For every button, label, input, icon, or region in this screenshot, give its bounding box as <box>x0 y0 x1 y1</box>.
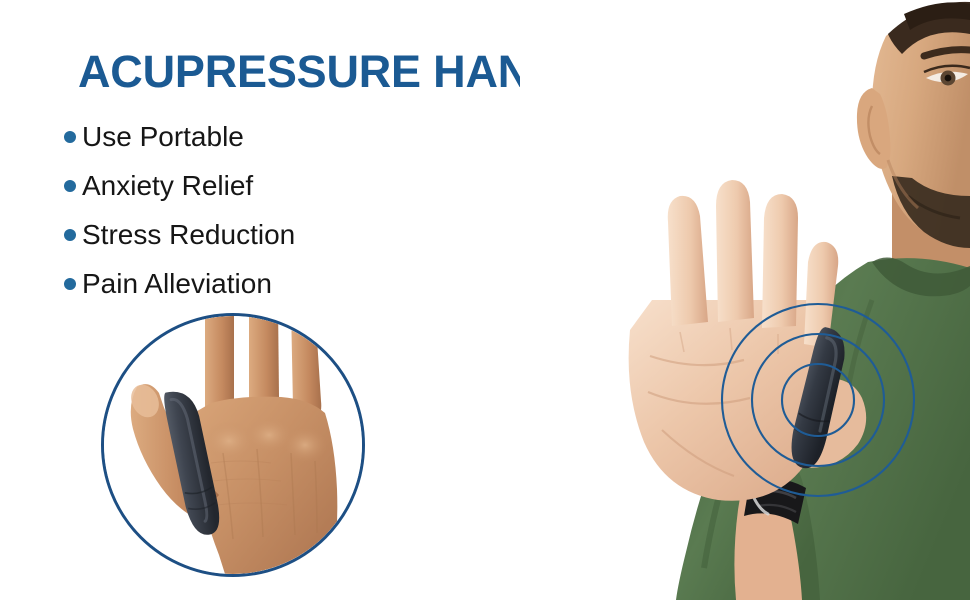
feature-label: Anxiety Relief <box>82 172 253 200</box>
bullet-dot-icon <box>64 131 76 143</box>
feature-list: Use Portable Anxiety Relief Stress Reduc… <box>64 112 295 308</box>
man-holding-device-photo <box>520 0 970 600</box>
feature-label: Pain Alleviation <box>82 270 272 298</box>
bullet-dot-icon <box>64 229 76 241</box>
list-item: Anxiety Relief <box>64 161 295 210</box>
hand-closeup-circle <box>101 313 365 577</box>
bullet-dot-icon <box>64 278 76 290</box>
list-item: Pain Alleviation <box>64 259 295 308</box>
list-item: Use Portable <box>64 112 295 161</box>
bullet-dot-icon <box>64 180 76 192</box>
man-photo-illustration <box>520 0 970 600</box>
list-item: Stress Reduction <box>64 210 295 259</box>
feature-label: Use Portable <box>82 123 244 151</box>
feature-label: Stress Reduction <box>82 221 295 249</box>
acupressure-banner: ACUPRESSURE HAND PRESSURE Use Portable A… <box>0 0 970 600</box>
hand-closeup-clip <box>104 316 362 574</box>
hand-closeup-illustration <box>104 316 362 574</box>
